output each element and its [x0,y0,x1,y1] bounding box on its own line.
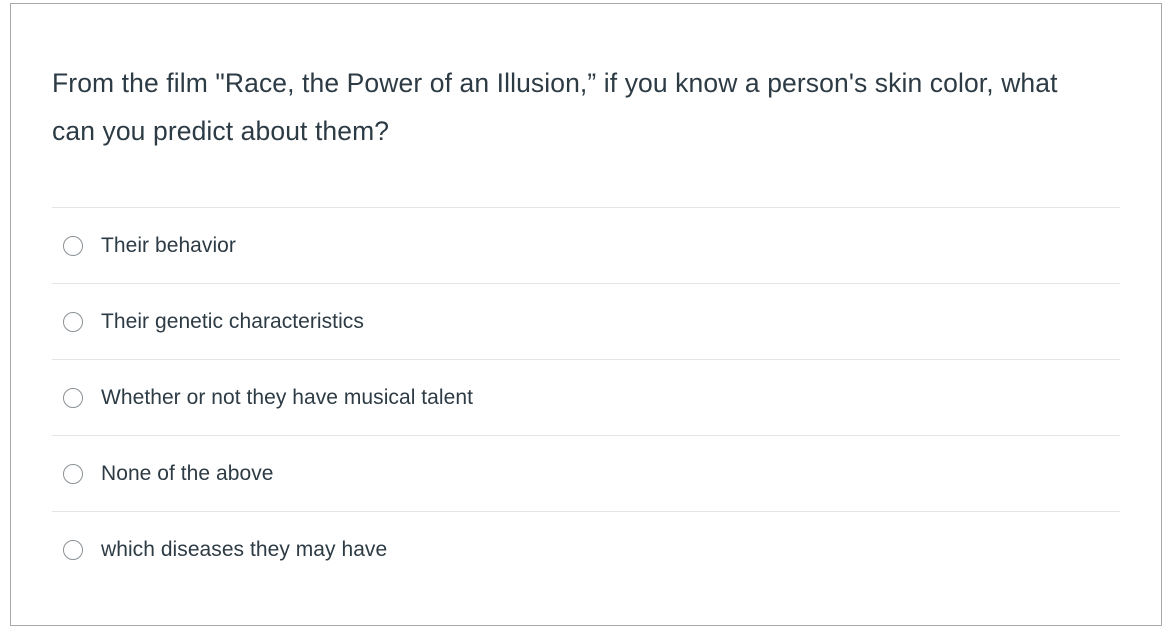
answer-option-row[interactable]: None of the above [52,435,1120,511]
answer-option-row[interactable]: Their behavior [52,207,1120,283]
question-card: From the film "Race, the Power of an Ill… [10,3,1162,626]
answer-option-row[interactable]: Their genetic characteristics [52,283,1120,359]
radio-button-icon[interactable] [63,236,83,256]
answer-option-label: Their behavior [101,233,236,259]
radio-button-icon[interactable] [63,388,83,408]
radio-button-icon[interactable] [63,540,83,560]
answer-option-row[interactable]: Whether or not they have musical talent [52,359,1120,435]
question-text: From the film "Race, the Power of an Ill… [52,59,1072,155]
radio-button-icon[interactable] [63,312,83,332]
answer-option-row[interactable]: which diseases they may have [52,511,1120,587]
answer-option-label: which diseases they may have [101,537,387,563]
answer-option-label: None of the above [101,461,273,487]
radio-button-icon[interactable] [63,464,83,484]
answer-option-label: Their genetic characteristics [101,309,364,335]
question-prompt: From the film "Race, the Power of an Ill… [52,59,1130,155]
answer-option-label: Whether or not they have musical talent [101,385,473,411]
answer-options-list: Their behavior Their genetic characteris… [52,207,1120,587]
